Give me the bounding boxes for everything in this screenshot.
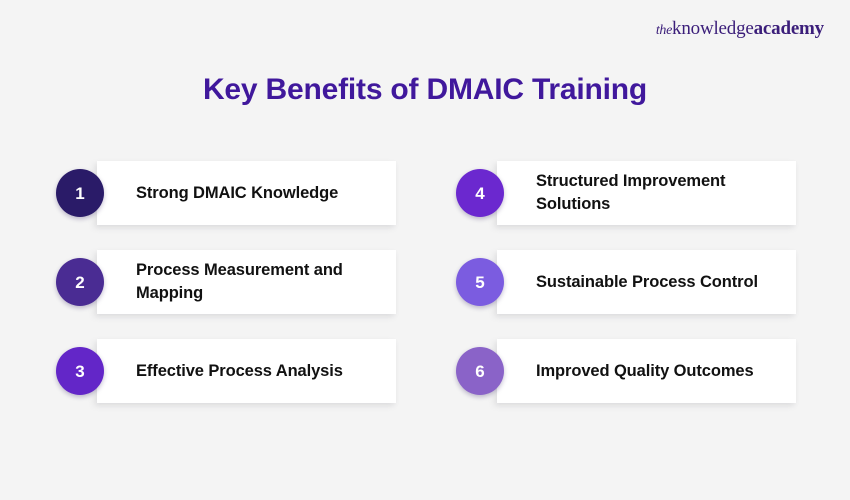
infographic-page: theknowledgeacademy Key Benefits of DMAI… <box>0 0 850 500</box>
benefit-card-2: 2 Process Measurement and Mapping <box>56 250 396 314</box>
benefits-grid: 1 Strong DMAIC Knowledge 4 Structured Im… <box>56 161 796 403</box>
benefit-number: 6 <box>475 363 484 380</box>
benefit-label: Effective Process Analysis <box>136 360 353 383</box>
benefit-card-6: 6 Improved Quality Outcomes <box>456 339 796 403</box>
brand-logo-knowledge: knowledge <box>672 18 754 39</box>
benefit-card-1: 1 Strong DMAIC Knowledge <box>56 161 396 225</box>
benefit-card-4: 4 Structured Improvement Solutions <box>456 161 796 225</box>
brand-logo-academy: academy <box>754 18 824 39</box>
benefit-number: 3 <box>75 363 84 380</box>
benefit-number-badge: 6 <box>456 347 504 395</box>
benefit-number-badge: 5 <box>456 258 504 306</box>
benefit-label: Strong DMAIC Knowledge <box>136 182 348 205</box>
benefit-number: 2 <box>75 274 84 291</box>
benefit-card-3: 3 Effective Process Analysis <box>56 339 396 403</box>
benefit-number-badge: 3 <box>56 347 104 395</box>
benefit-number-badge: 4 <box>456 169 504 217</box>
benefit-label: Process Measurement and Mapping <box>136 259 396 305</box>
brand-logo-the: the <box>656 23 672 38</box>
benefit-label: Sustainable Process Control <box>536 271 768 294</box>
benefit-number: 5 <box>475 274 484 291</box>
benefit-card-5: 5 Sustainable Process Control <box>456 250 796 314</box>
benefit-number-badge: 2 <box>56 258 104 306</box>
benefit-label: Structured Improvement Solutions <box>536 170 796 216</box>
benefit-number: 1 <box>75 185 84 202</box>
benefit-number-badge: 1 <box>56 169 104 217</box>
benefit-number: 4 <box>475 185 484 202</box>
page-title: Key Benefits of DMAIC Training <box>0 72 850 108</box>
benefit-label: Improved Quality Outcomes <box>536 360 764 383</box>
brand-logo: theknowledgeacademy <box>656 19 824 38</box>
